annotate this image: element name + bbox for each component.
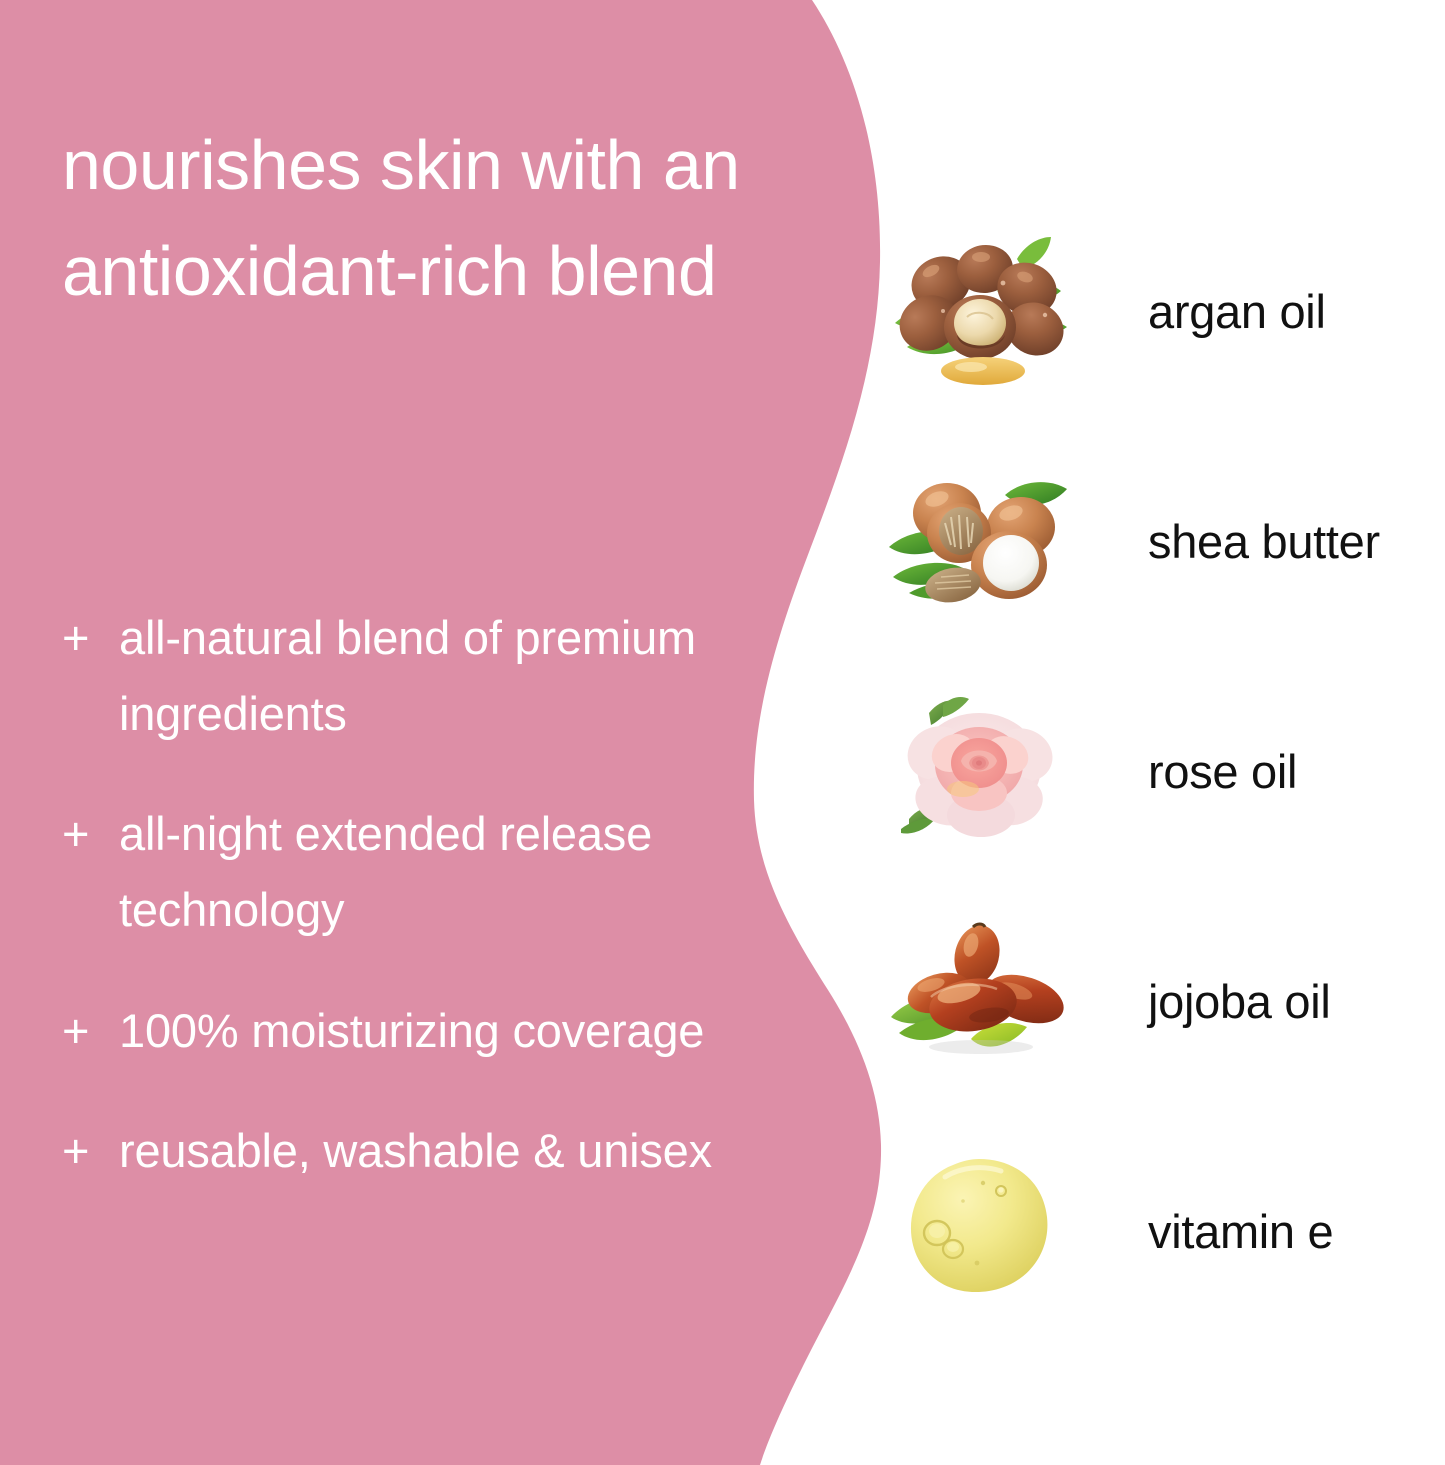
plus-marker-icon: +: [62, 600, 89, 676]
shea-nuts-icon: [880, 451, 1080, 631]
rose-flower-icon: [880, 681, 1080, 861]
ingredient-row: jojoba oil: [880, 886, 1445, 1116]
plus-marker-icon: +: [62, 993, 89, 1069]
argan-nuts-icon: [880, 221, 1080, 401]
benefits-list: + all-natural blend of premium ingredien…: [62, 600, 752, 1189]
ingredient-label: shea butter: [1148, 514, 1380, 569]
ingredient-row: shea butter: [880, 426, 1445, 656]
ingredient-label: argan oil: [1148, 284, 1326, 339]
benefit-item: + all-natural blend of premium ingredien…: [62, 600, 752, 752]
infographic-page: nourishes skin with an antioxidant-rich …: [0, 0, 1445, 1465]
ingredient-row: rose oil: [880, 656, 1445, 886]
ingredient-label: vitamin e: [1148, 1204, 1333, 1259]
benefit-item: + all-night extended release technology: [62, 796, 752, 948]
ingredient-label: rose oil: [1148, 744, 1297, 799]
jojoba-seeds-icon: [880, 911, 1080, 1091]
benefit-text: reusable, washable & unisex: [119, 1113, 752, 1189]
ingredient-row: argan oil: [880, 196, 1445, 426]
plus-marker-icon: +: [62, 796, 89, 872]
left-content-column: nourishes skin with an antioxidant-rich …: [0, 0, 760, 1465]
benefit-item: + reusable, washable & unisex: [62, 1113, 752, 1189]
plus-marker-icon: +: [62, 1113, 89, 1189]
ingredient-label: jojoba oil: [1148, 974, 1331, 1029]
benefit-text: all-night extended release technology: [119, 796, 752, 948]
ingredients-list: argan oil: [880, 196, 1445, 1346]
oil-droplet-icon: [880, 1141, 1080, 1321]
benefit-text: all-natural blend of premium ingredients: [119, 600, 752, 752]
benefit-text: 100% moisturizing coverage: [119, 993, 752, 1069]
benefit-item: + 100% moisturizing coverage: [62, 993, 752, 1069]
page-headline: nourishes skin with an antioxidant-rich …: [62, 112, 742, 325]
ingredient-row: vitamin e: [880, 1116, 1445, 1346]
